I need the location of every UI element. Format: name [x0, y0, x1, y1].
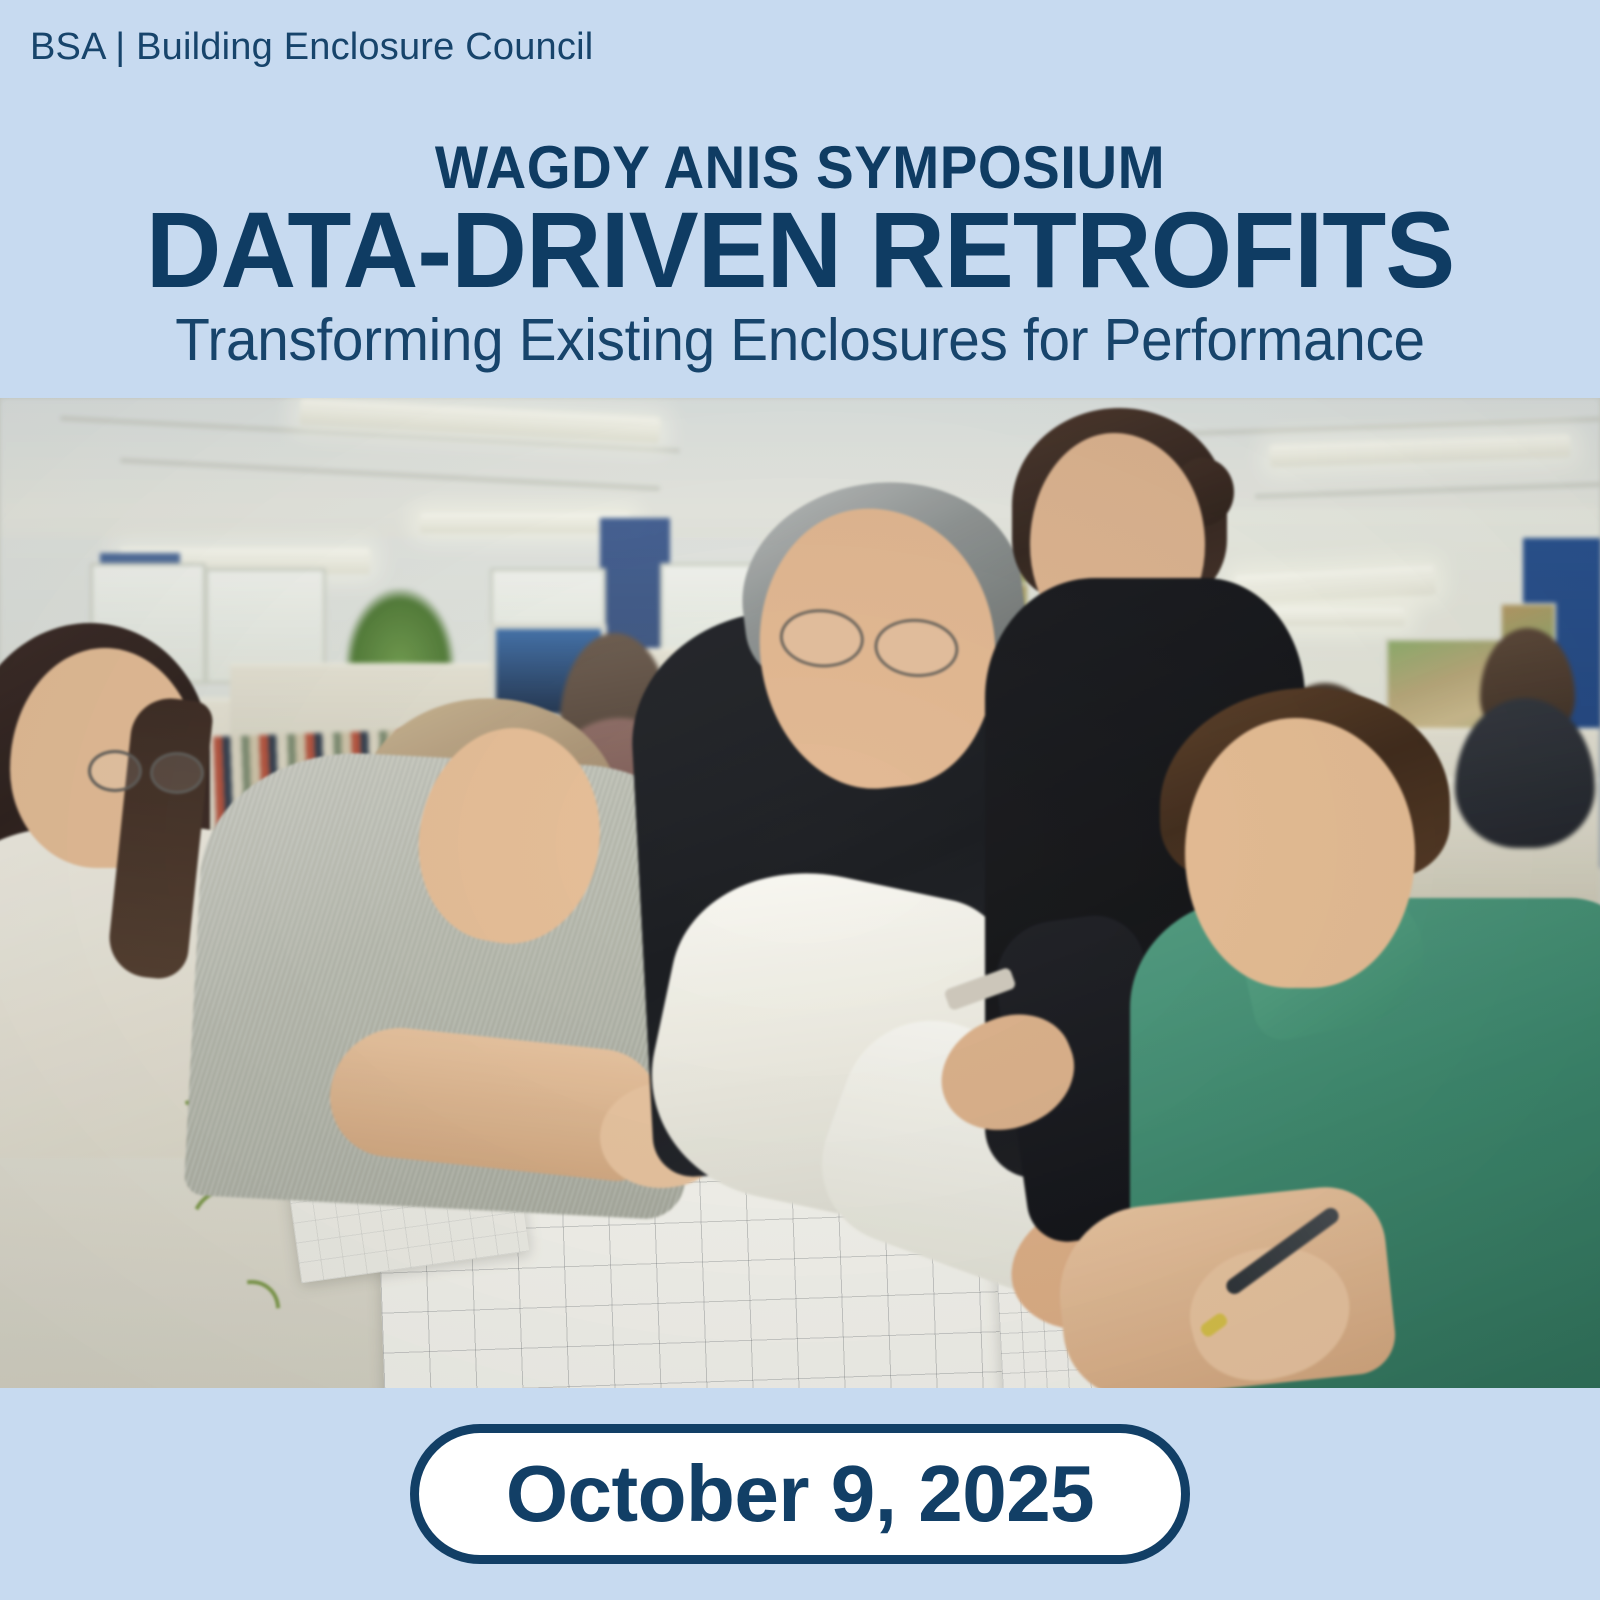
hero-photo [0, 398, 1600, 1388]
event-poster: BSA | Building Enclosure Council WAGDY A… [0, 0, 1600, 1600]
title-band: BSA | Building Enclosure Council WAGDY A… [0, 0, 1600, 398]
organization-label: BSA | Building Enclosure Council [30, 26, 593, 69]
footer-band: October 9, 2025 [0, 1388, 1600, 1600]
event-date: October 9, 2025 [506, 1448, 1094, 1540]
event-date-pill[interactable]: October 9, 2025 [410, 1424, 1190, 1564]
ceiling-light [420, 513, 630, 533]
page-subtitle: Transforming Existing Enclosures for Per… [32, 306, 1568, 374]
page-title: DATA-DRIVEN RETROFITS [24, 196, 1576, 304]
eyeglasses [88, 750, 208, 790]
face [1185, 718, 1415, 988]
